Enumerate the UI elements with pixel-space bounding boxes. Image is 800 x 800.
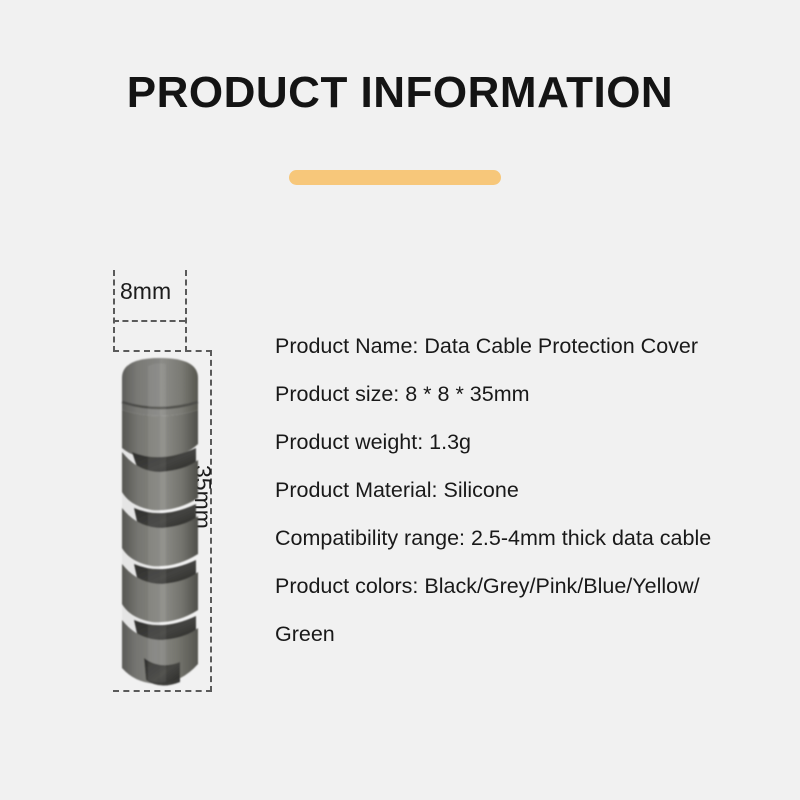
product-image xyxy=(108,352,212,694)
page-title: PRODUCT INFORMATION xyxy=(0,68,800,118)
spec-line-product-colors: Product colors: Black/Grey/Pink/Blue/Yel… xyxy=(275,562,795,610)
spec-line-compatibility-range: Compatibility range: 2.5-4mm thick data … xyxy=(275,514,795,562)
spec-line-product-name: Product Name: Data Cable Protection Cove… xyxy=(275,322,795,370)
spec-line-product-material: Product Material: Silicone xyxy=(275,466,795,514)
guide-line-left-vertical xyxy=(113,270,115,352)
spec-line-product-colors-continued: Green xyxy=(275,610,795,658)
spec-line-product-weight: Product weight: 1.3g xyxy=(275,418,795,466)
product-information-page: PRODUCT INFORMATION 8mm 35mm xyxy=(0,0,800,800)
guide-line-width-upper xyxy=(113,320,185,322)
guide-line-right-vertical xyxy=(185,270,187,352)
title-divider-bar xyxy=(289,170,501,185)
spiral-cable-protector-illustration xyxy=(108,352,212,694)
dimension-label-width: 8mm xyxy=(120,278,171,305)
product-spec-list: Product Name: Data Cable Protection Cove… xyxy=(275,322,795,658)
spec-line-product-size: Product size: 8 * 8 * 35mm xyxy=(275,370,795,418)
